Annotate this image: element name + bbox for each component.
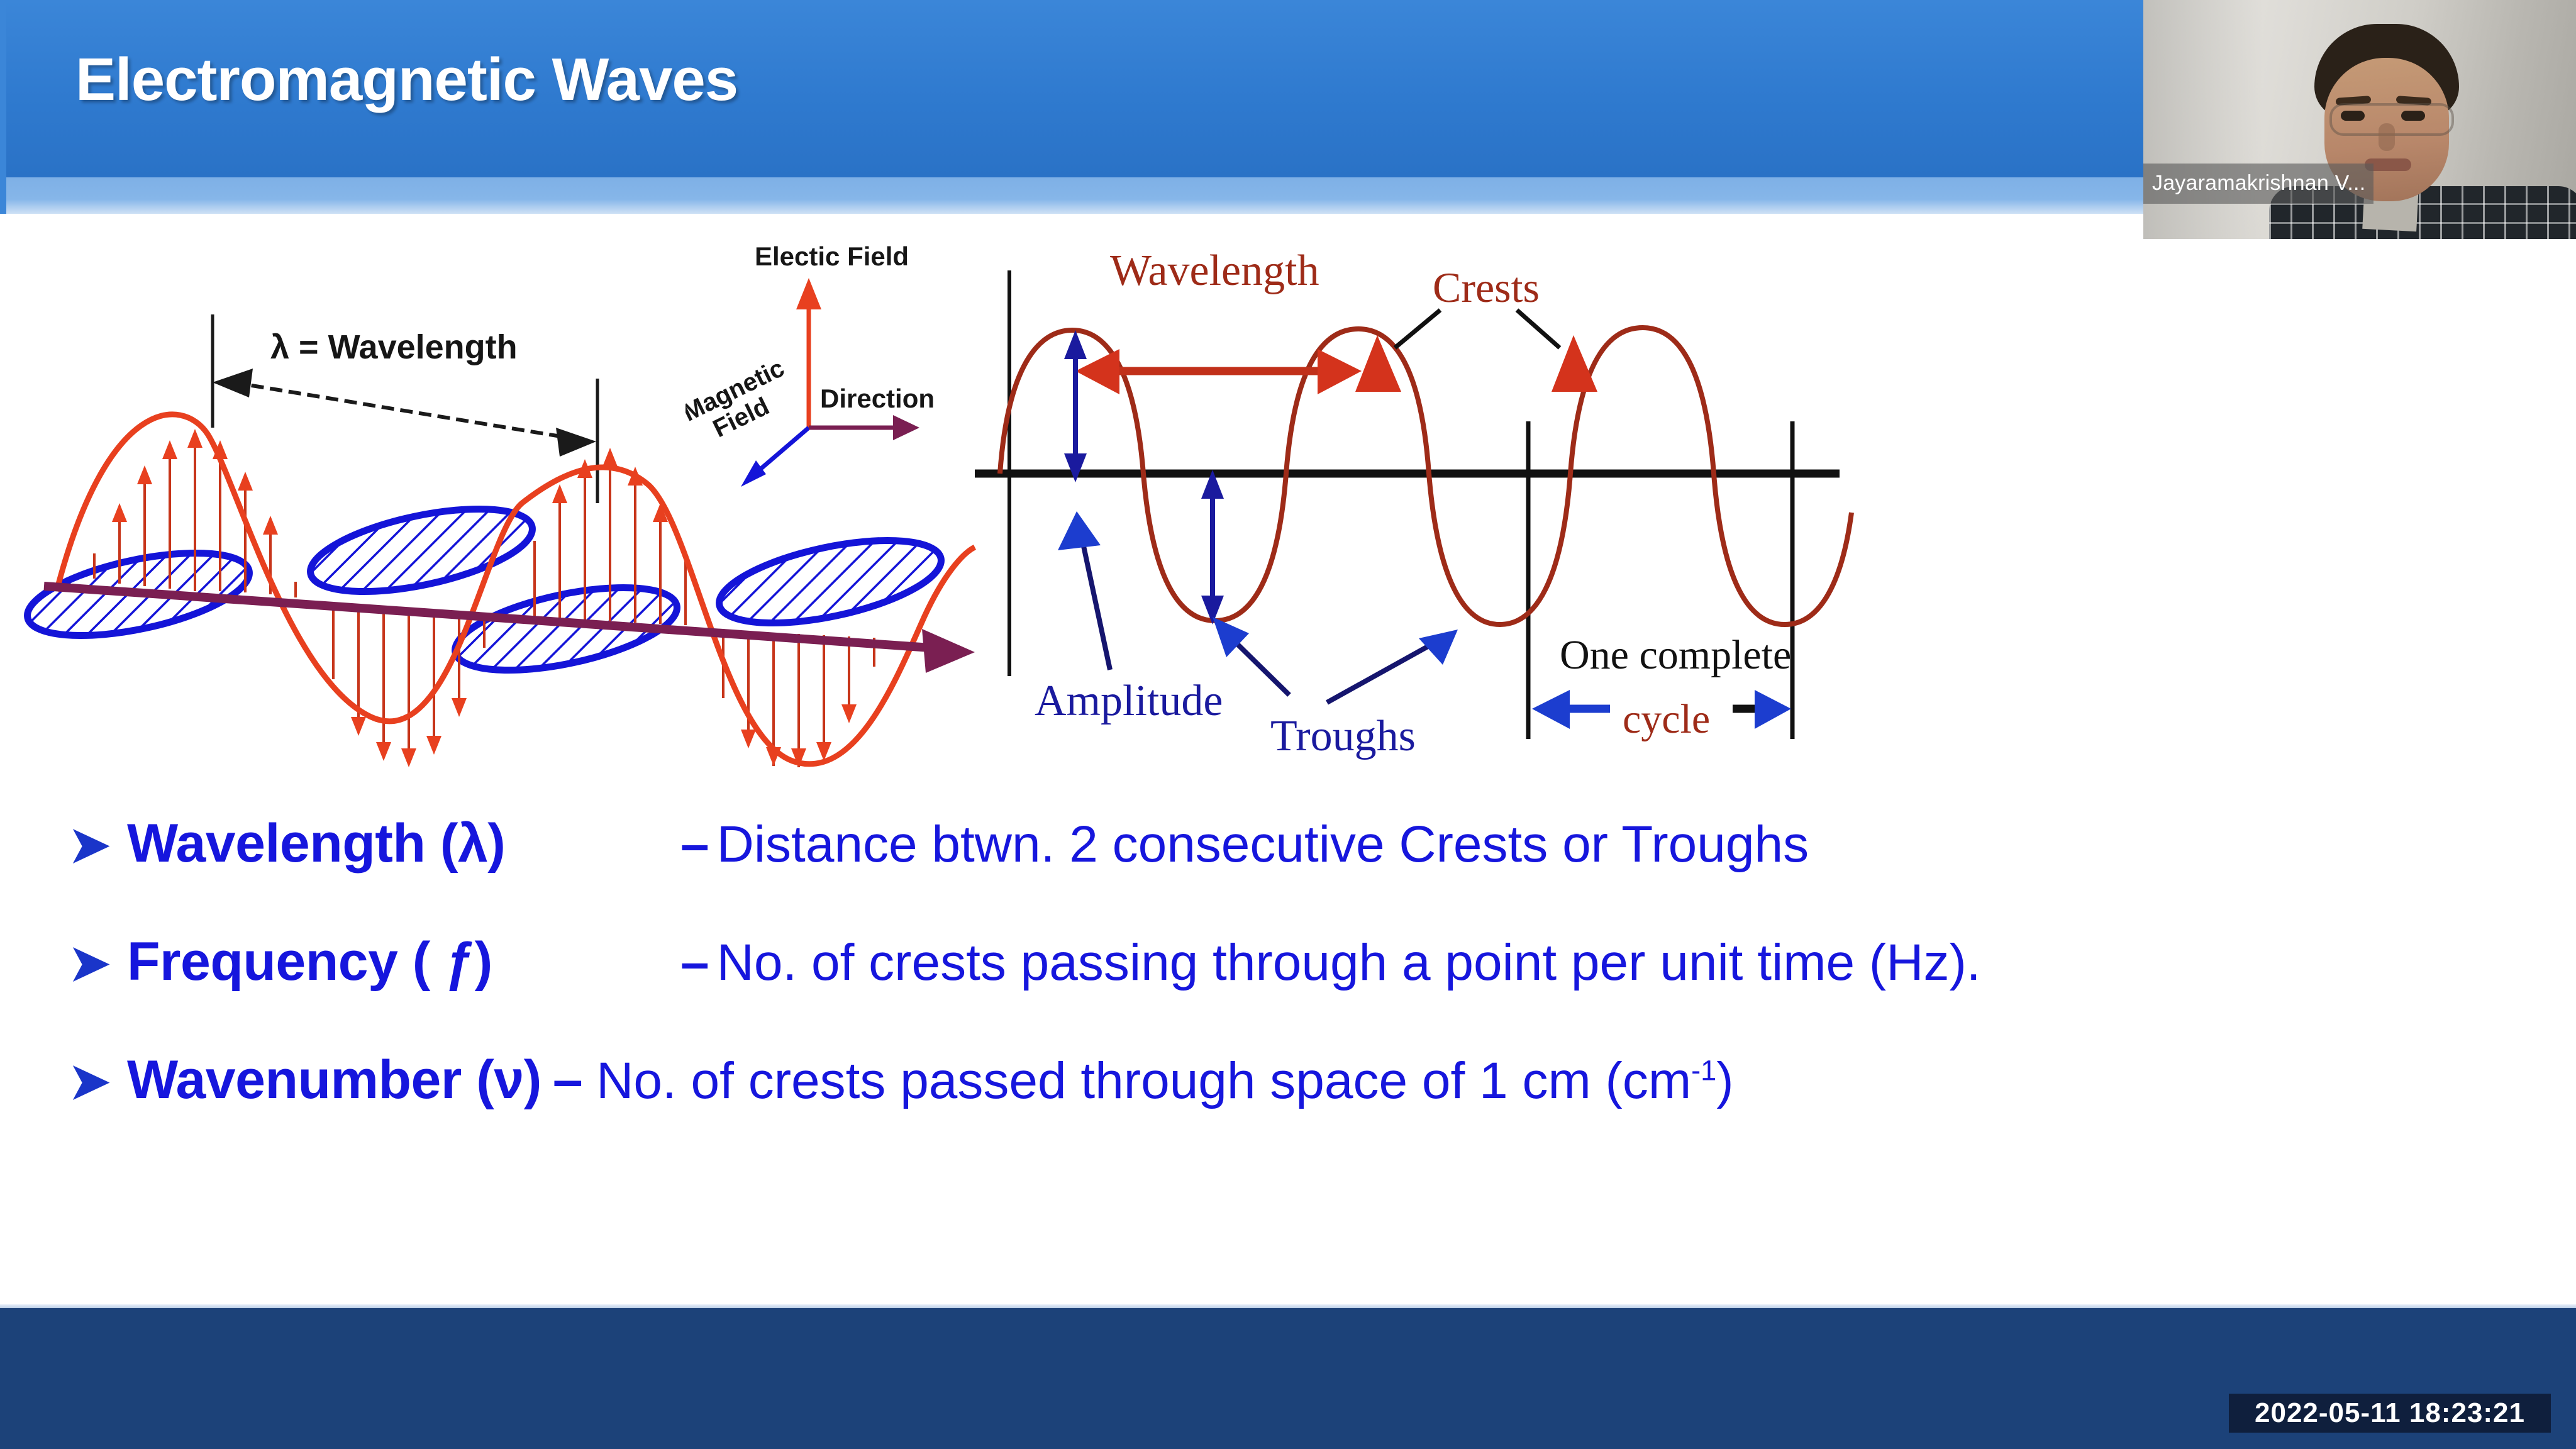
magnetic-field-axis-arrow — [741, 460, 766, 487]
definition-wavenumber-pre: No. of crests passed through space of 1 … — [596, 1052, 1691, 1109]
term-frequency: Frequency ( ƒ) — [127, 931, 680, 993]
wavelength-arrow-right — [1318, 349, 1362, 394]
definition-frequency: No. of crests passing through a point pe… — [717, 934, 1981, 991]
list-item: ➤ Frequency ( ƒ) –No. of crests passing … — [69, 931, 2459, 1049]
webcam-video-tile[interactable]: Jayaramakrishnan V... — [2143, 0, 2576, 239]
bullet-arrow-icon: ➤ — [69, 820, 127, 869]
crest-pointer-right — [1552, 335, 1597, 392]
term-wavenumber: Wavenumber (ν) — [127, 1049, 553, 1111]
bullet-arrow-icon: ➤ — [69, 1057, 127, 1106]
slide-stage: Electromagnetic Waves — [0, 0, 2576, 1449]
dash-separator: – — [680, 934, 717, 991]
cycle-arrow-left — [1532, 690, 1570, 729]
cycle-label-line2: cycle — [1623, 696, 1710, 742]
wave-anatomy-diagram: Wavelength Crests Amplitude Troughs — [975, 236, 1862, 764]
direction-axis-arrow — [893, 415, 919, 440]
field-axes-svg: Electic Field Magnetic Field Direction — [686, 239, 987, 503]
cycle-arrow-right — [1755, 690, 1791, 729]
electric-field-axis-label: Electic Field — [755, 241, 909, 271]
left-wavelength-label: λ = Wavelength — [270, 328, 518, 366]
webcam-name-bar: Jayaramakrishnan V... — [2143, 164, 2373, 204]
webcam-nose — [2379, 123, 2395, 151]
bullet-arrow-icon: ➤ — [69, 938, 127, 987]
definitions-list: ➤ Wavelength (λ) –Distance btwn. 2 conse… — [69, 813, 2459, 1167]
webcam-eye-left — [2341, 111, 2365, 121]
webcam-eye-right — [2401, 111, 2425, 121]
wavelength-arrow-right — [556, 428, 596, 457]
definition-wavelength: Distance btwn. 2 consecutive Crests or T… — [717, 816, 1809, 873]
wavelength-arrow-left — [213, 369, 253, 397]
slide-footer-band — [0, 1308, 2576, 1449]
webcam-left-edge — [0, 0, 6, 214]
electric-field-axis-arrow — [796, 278, 821, 309]
magnetic-field-axis — [756, 428, 809, 473]
field-orientation-axes: Electic Field Magnetic Field Direction — [686, 239, 987, 503]
direction-axis-label: Direction — [820, 384, 935, 413]
crest-leader-right — [1517, 310, 1560, 348]
crest-leader-left — [1395, 310, 1440, 348]
list-item: ➤ Wavenumber (ν) – No. of crests passed … — [69, 1049, 2459, 1167]
trough-leader-right — [1327, 640, 1440, 702]
amplitude-label: Amplitude — [1035, 677, 1223, 725]
crests-label: Crests — [1433, 264, 1540, 311]
dash-separator: – — [680, 816, 717, 873]
magnetic-field-axis-label: Magnetic Field — [686, 354, 801, 452]
definition-wavenumber-post: ) — [1716, 1052, 1733, 1109]
term-wavelength: Wavelength (λ) — [127, 813, 680, 875]
wavelength-measure-line — [233, 382, 576, 439]
page-title: Electromagnetic Waves — [75, 45, 1711, 121]
dash-separator: – — [553, 1049, 596, 1111]
propagation-arrowhead — [922, 629, 975, 673]
troughs-label: Troughs — [1270, 712, 1416, 760]
list-item: ➤ Wavelength (λ) –Distance btwn. 2 conse… — [69, 813, 2459, 931]
recording-timestamp: 2022-05-11 18:23:21 — [2229, 1394, 2551, 1433]
amplitude-leader — [1080, 531, 1110, 670]
wave-anatomy-svg: Wavelength Crests Amplitude Troughs — [975, 236, 1862, 764]
cycle-label-line1: One complete — [1560, 632, 1791, 678]
webcam-participant-name: Jayaramakrishnan V... — [2152, 171, 2365, 196]
definition-wavenumber-exponent: -1 — [1691, 1055, 1716, 1087]
wavelength-label: Wavelength — [1110, 247, 1319, 295]
